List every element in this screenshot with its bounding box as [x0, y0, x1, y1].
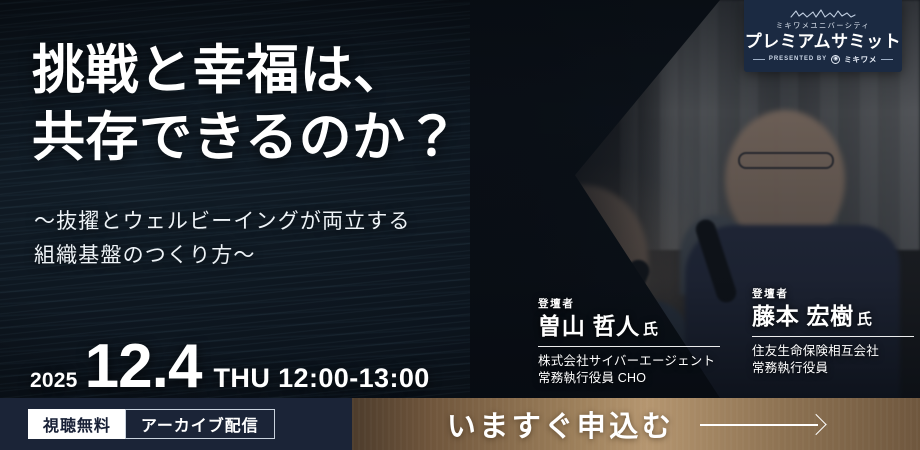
apply-now-button[interactable]: いますぐ申込む — [352, 398, 920, 450]
status-badge-archive: アーカイブ配信 — [125, 409, 275, 439]
headline-line-2: 共存できるのか？ — [32, 105, 502, 172]
speaker-1-divider — [538, 346, 720, 347]
subtitle-line-2: 組織基盤のつくり方〜 — [34, 239, 514, 273]
speaker-2-name: 藤本 宏樹氏 — [752, 304, 914, 330]
speaker-2-honorific: 氏 — [857, 311, 873, 328]
event-year: 2025 — [30, 369, 78, 393]
cta-content: いますぐ申込む — [447, 403, 825, 445]
long-arrow-right-icon — [700, 417, 825, 431]
seminar-banner: 挑戦と幸福は、 共存できるのか？ 〜抜擢とウェルビーイングが両立する 組織基盤の… — [0, 0, 920, 450]
event-logo-badge: ミキワメユニバーシティ プレミアムサミット PRESENTED BY ◉ ミキワ… — [744, 0, 902, 72]
speaker-1-org-line-2: 常務執行役員 CHO — [538, 370, 720, 388]
arrow-line — [700, 424, 818, 426]
logo-presented-by-row: PRESENTED BY ◉ ミキワメ — [753, 54, 893, 65]
subtitle-line-1: 〜抜擢とウェルビーイングが両立する — [34, 205, 514, 239]
cta-label: いますぐ申込む — [447, 403, 674, 445]
logo-brand-label: ミキワメ — [844, 54, 877, 65]
event-day: 12.4 — [85, 340, 202, 393]
speaker-2-name-text: 藤本 宏樹 — [752, 303, 854, 329]
bottom-bar-left: 視聴無料 アーカイブ配信 — [0, 398, 352, 450]
speaker-card-1: 登壇者 曽山 哲人氏 株式会社サイバーエージェント 常務執行役員 CHO — [538, 296, 720, 388]
badge-group: 視聴無料 アーカイブ配信 — [28, 409, 275, 439]
speaker-2-org-line-1: 住友生命保険相互会社 — [752, 343, 914, 361]
speaker-1-honorific: 氏 — [643, 321, 659, 338]
speaker-2-divider — [752, 336, 914, 337]
logo-rule-right — [881, 59, 893, 60]
logo-presented-by-label: PRESENTED BY — [769, 56, 827, 62]
logo-title: プレミアムサミット — [745, 33, 901, 50]
subtitle: 〜抜擢とウェルビーイングが両立する 組織基盤のつくり方〜 — [34, 205, 514, 273]
mikiwame-circle-mark-icon: ◉ — [831, 55, 840, 64]
speaker-1-org-line-1: 株式会社サイバーエージェント — [538, 353, 720, 371]
speaker-2-role: 登壇者 — [752, 286, 914, 301]
page-title: 挑戦と幸福は、 共存できるのか？ — [32, 38, 502, 173]
bottom-bar: 視聴無料 アーカイブ配信 いますぐ申込む — [0, 398, 920, 450]
speaker-card-2: 登壇者 藤本 宏樹氏 住友生命保険相互会社 常務執行役員 — [752, 286, 914, 378]
status-badge-free: 視聴無料 — [28, 409, 126, 439]
speaker-1-role: 登壇者 — [538, 296, 720, 311]
headline-line-1: 挑戦と幸福は、 — [32, 42, 407, 100]
speaker-2-org: 住友生命保険相互会社 常務執行役員 — [752, 343, 914, 379]
logo-rule-left — [753, 59, 765, 60]
speaker-1-org: 株式会社サイバーエージェント 常務執行役員 CHO — [538, 353, 720, 389]
logo-university-label: ミキワメユニバーシティ — [776, 21, 870, 31]
event-date: 2025 12.4 THU 12:00-13:00 — [30, 340, 430, 394]
mountain-skyline-icon — [790, 8, 856, 19]
arrow-head — [806, 414, 827, 435]
event-weekday-time: THU 12:00-13:00 — [214, 363, 430, 394]
speaker-1-name-text: 曽山 哲人 — [538, 313, 640, 339]
speaker-2-org-line-2: 常務執行役員 — [752, 360, 914, 378]
speaker-1-name: 曽山 哲人氏 — [538, 314, 720, 340]
